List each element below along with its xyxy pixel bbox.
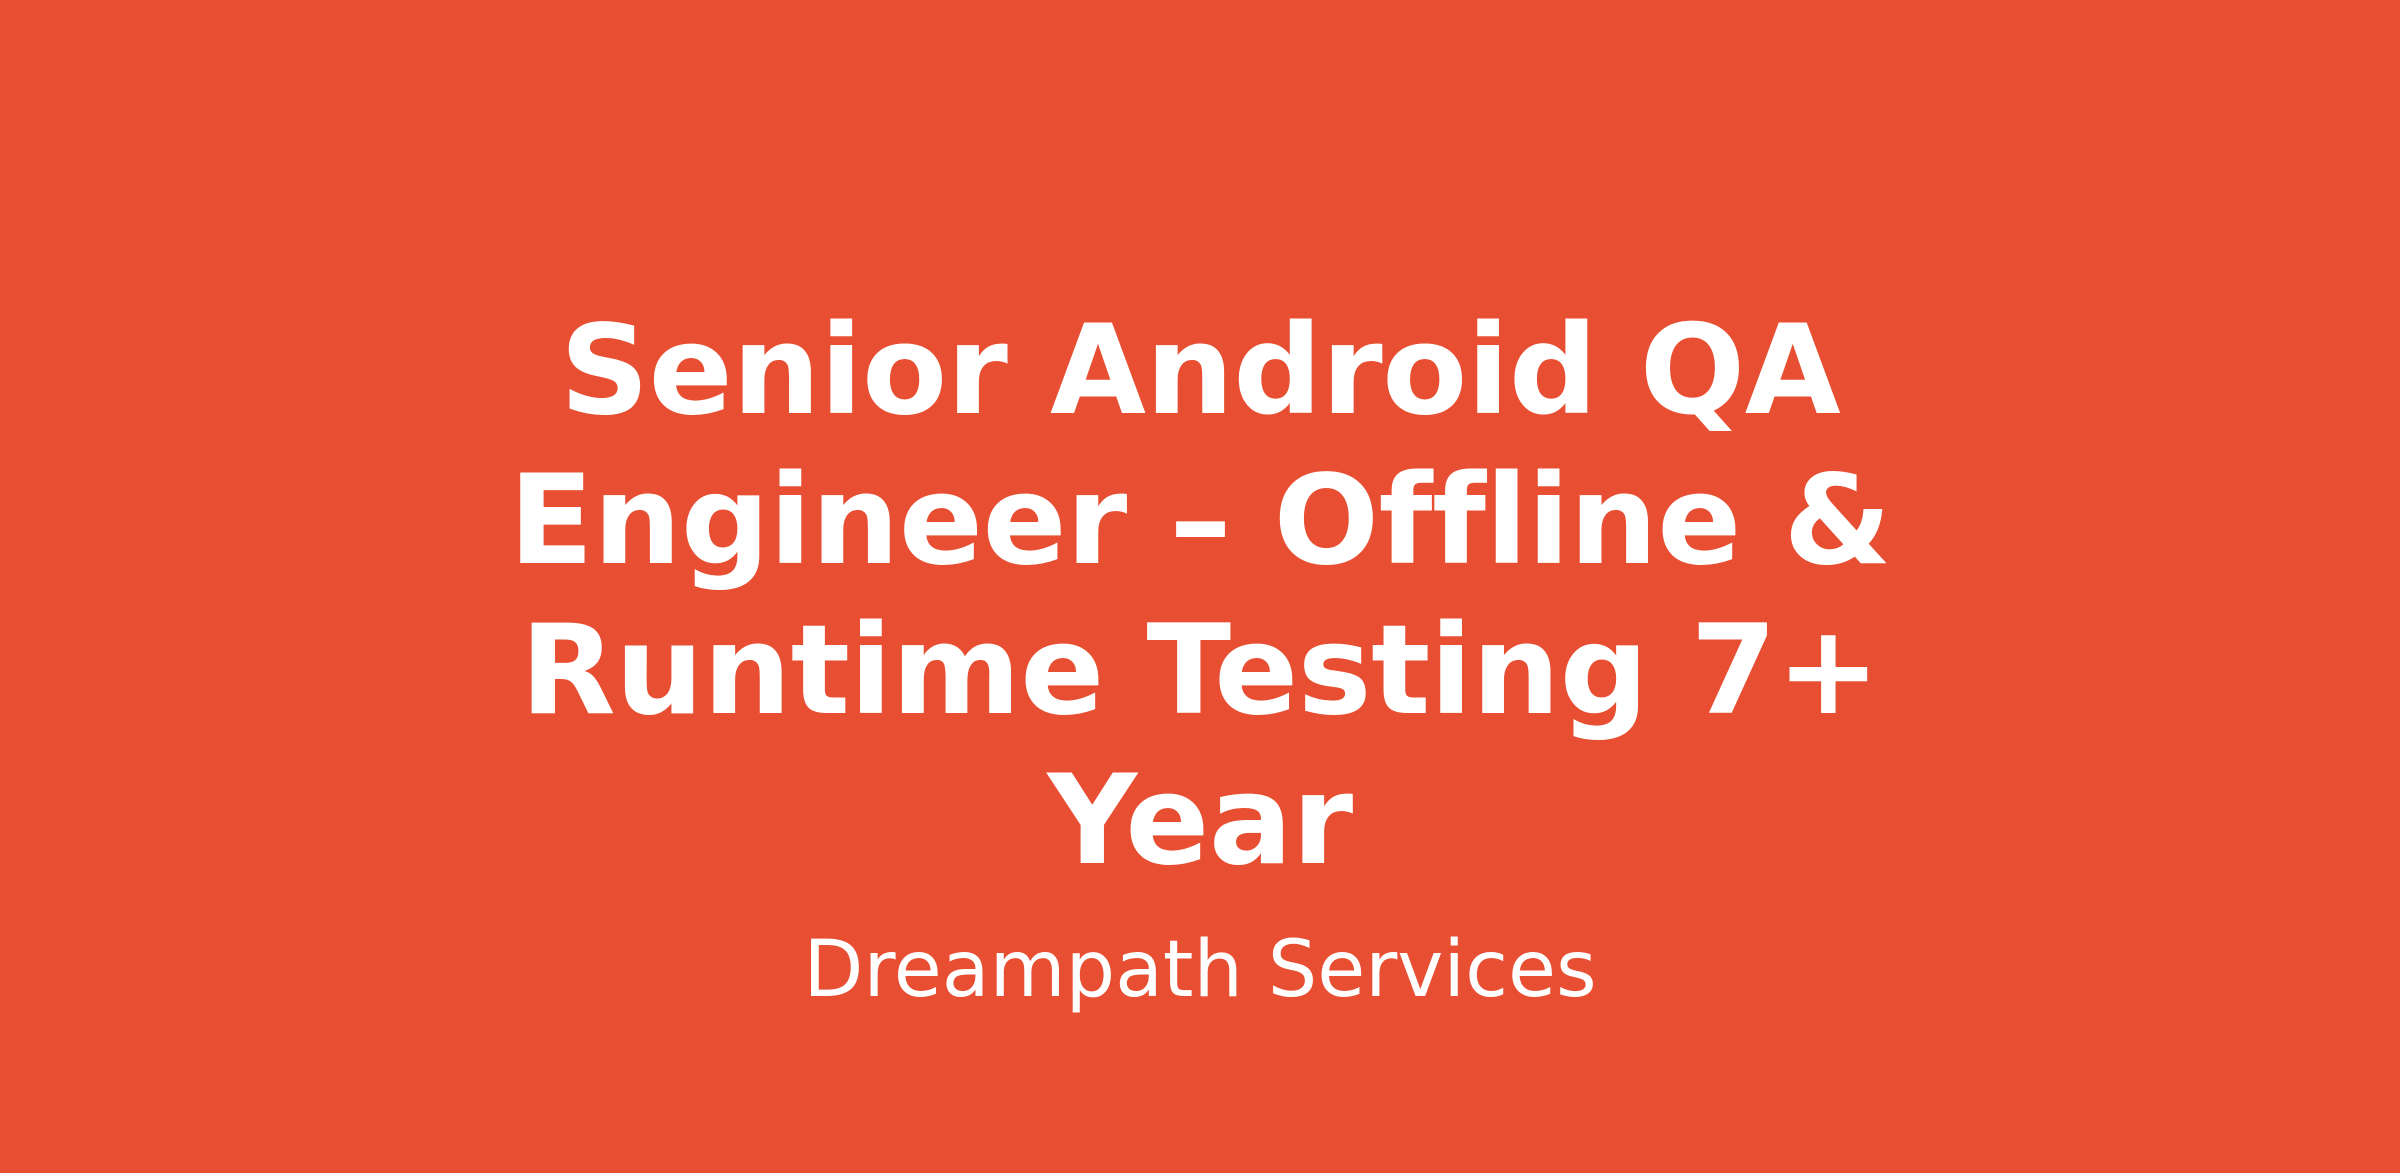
company-name: Dreampath Services	[350, 924, 2050, 1016]
job-share-card: Senior Android QA Engineer – Offline & R…	[0, 0, 2400, 1173]
page-title: Senior Android QA Engineer – Offline & R…	[350, 296, 2050, 896]
